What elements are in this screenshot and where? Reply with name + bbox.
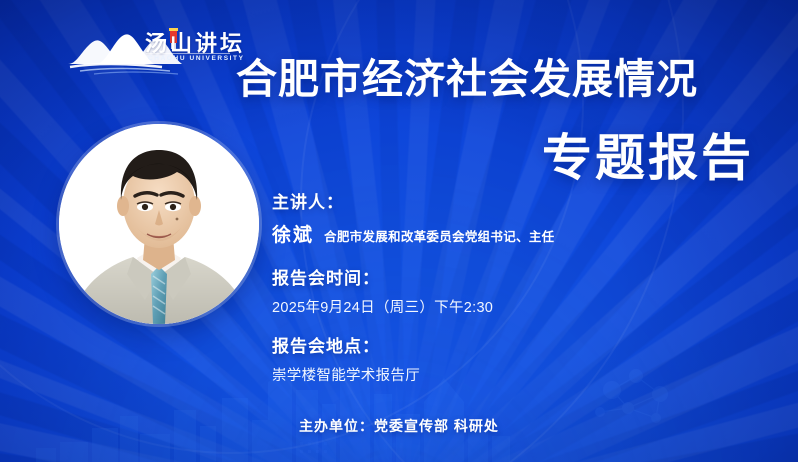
time-label: 报告会时间： — [272, 264, 742, 289]
details-block: 主讲人： 徐斌 合肥市发展和改革委员会党组书记、主任 报告会时间： 2025年9… — [272, 188, 742, 385]
headline-line-1: 合肥市经济社会发展情况 — [236, 59, 698, 100]
time-value: 2025年9月24日（周三）下午2:30 — [272, 296, 742, 317]
speaker-name: 徐斌 — [272, 220, 314, 247]
organizer-line: 主办单位：党委宣传部 科研处 — [0, 416, 798, 436]
speaker-portrait-image — [59, 124, 259, 324]
poster-canvas: 汤山讲坛 CHAOHU UNIVERSITY — [0, 0, 798, 462]
logo-name-en: CHAOHU UNIVERSITY — [148, 55, 245, 62]
chaohu-university-logo: 汤山讲坛 CHAOHU UNIVERSITY — [66, 24, 236, 76]
venue-value: 崇学楼智能学术报告厅 — [272, 364, 742, 385]
headline-line-2: 专题报告 — [542, 133, 754, 183]
speaker-label: 主讲人： — [272, 188, 742, 213]
speaker-portrait — [59, 124, 259, 324]
speaker-row: 徐斌 合肥市发展和改革委员会党组书记、主任 — [272, 220, 742, 247]
speaker-title: 合肥市发展和改革委员会党组书记、主任 — [324, 226, 554, 245]
logo-divider — [146, 53, 230, 54]
venue-label: 报告会地点： — [272, 332, 742, 357]
